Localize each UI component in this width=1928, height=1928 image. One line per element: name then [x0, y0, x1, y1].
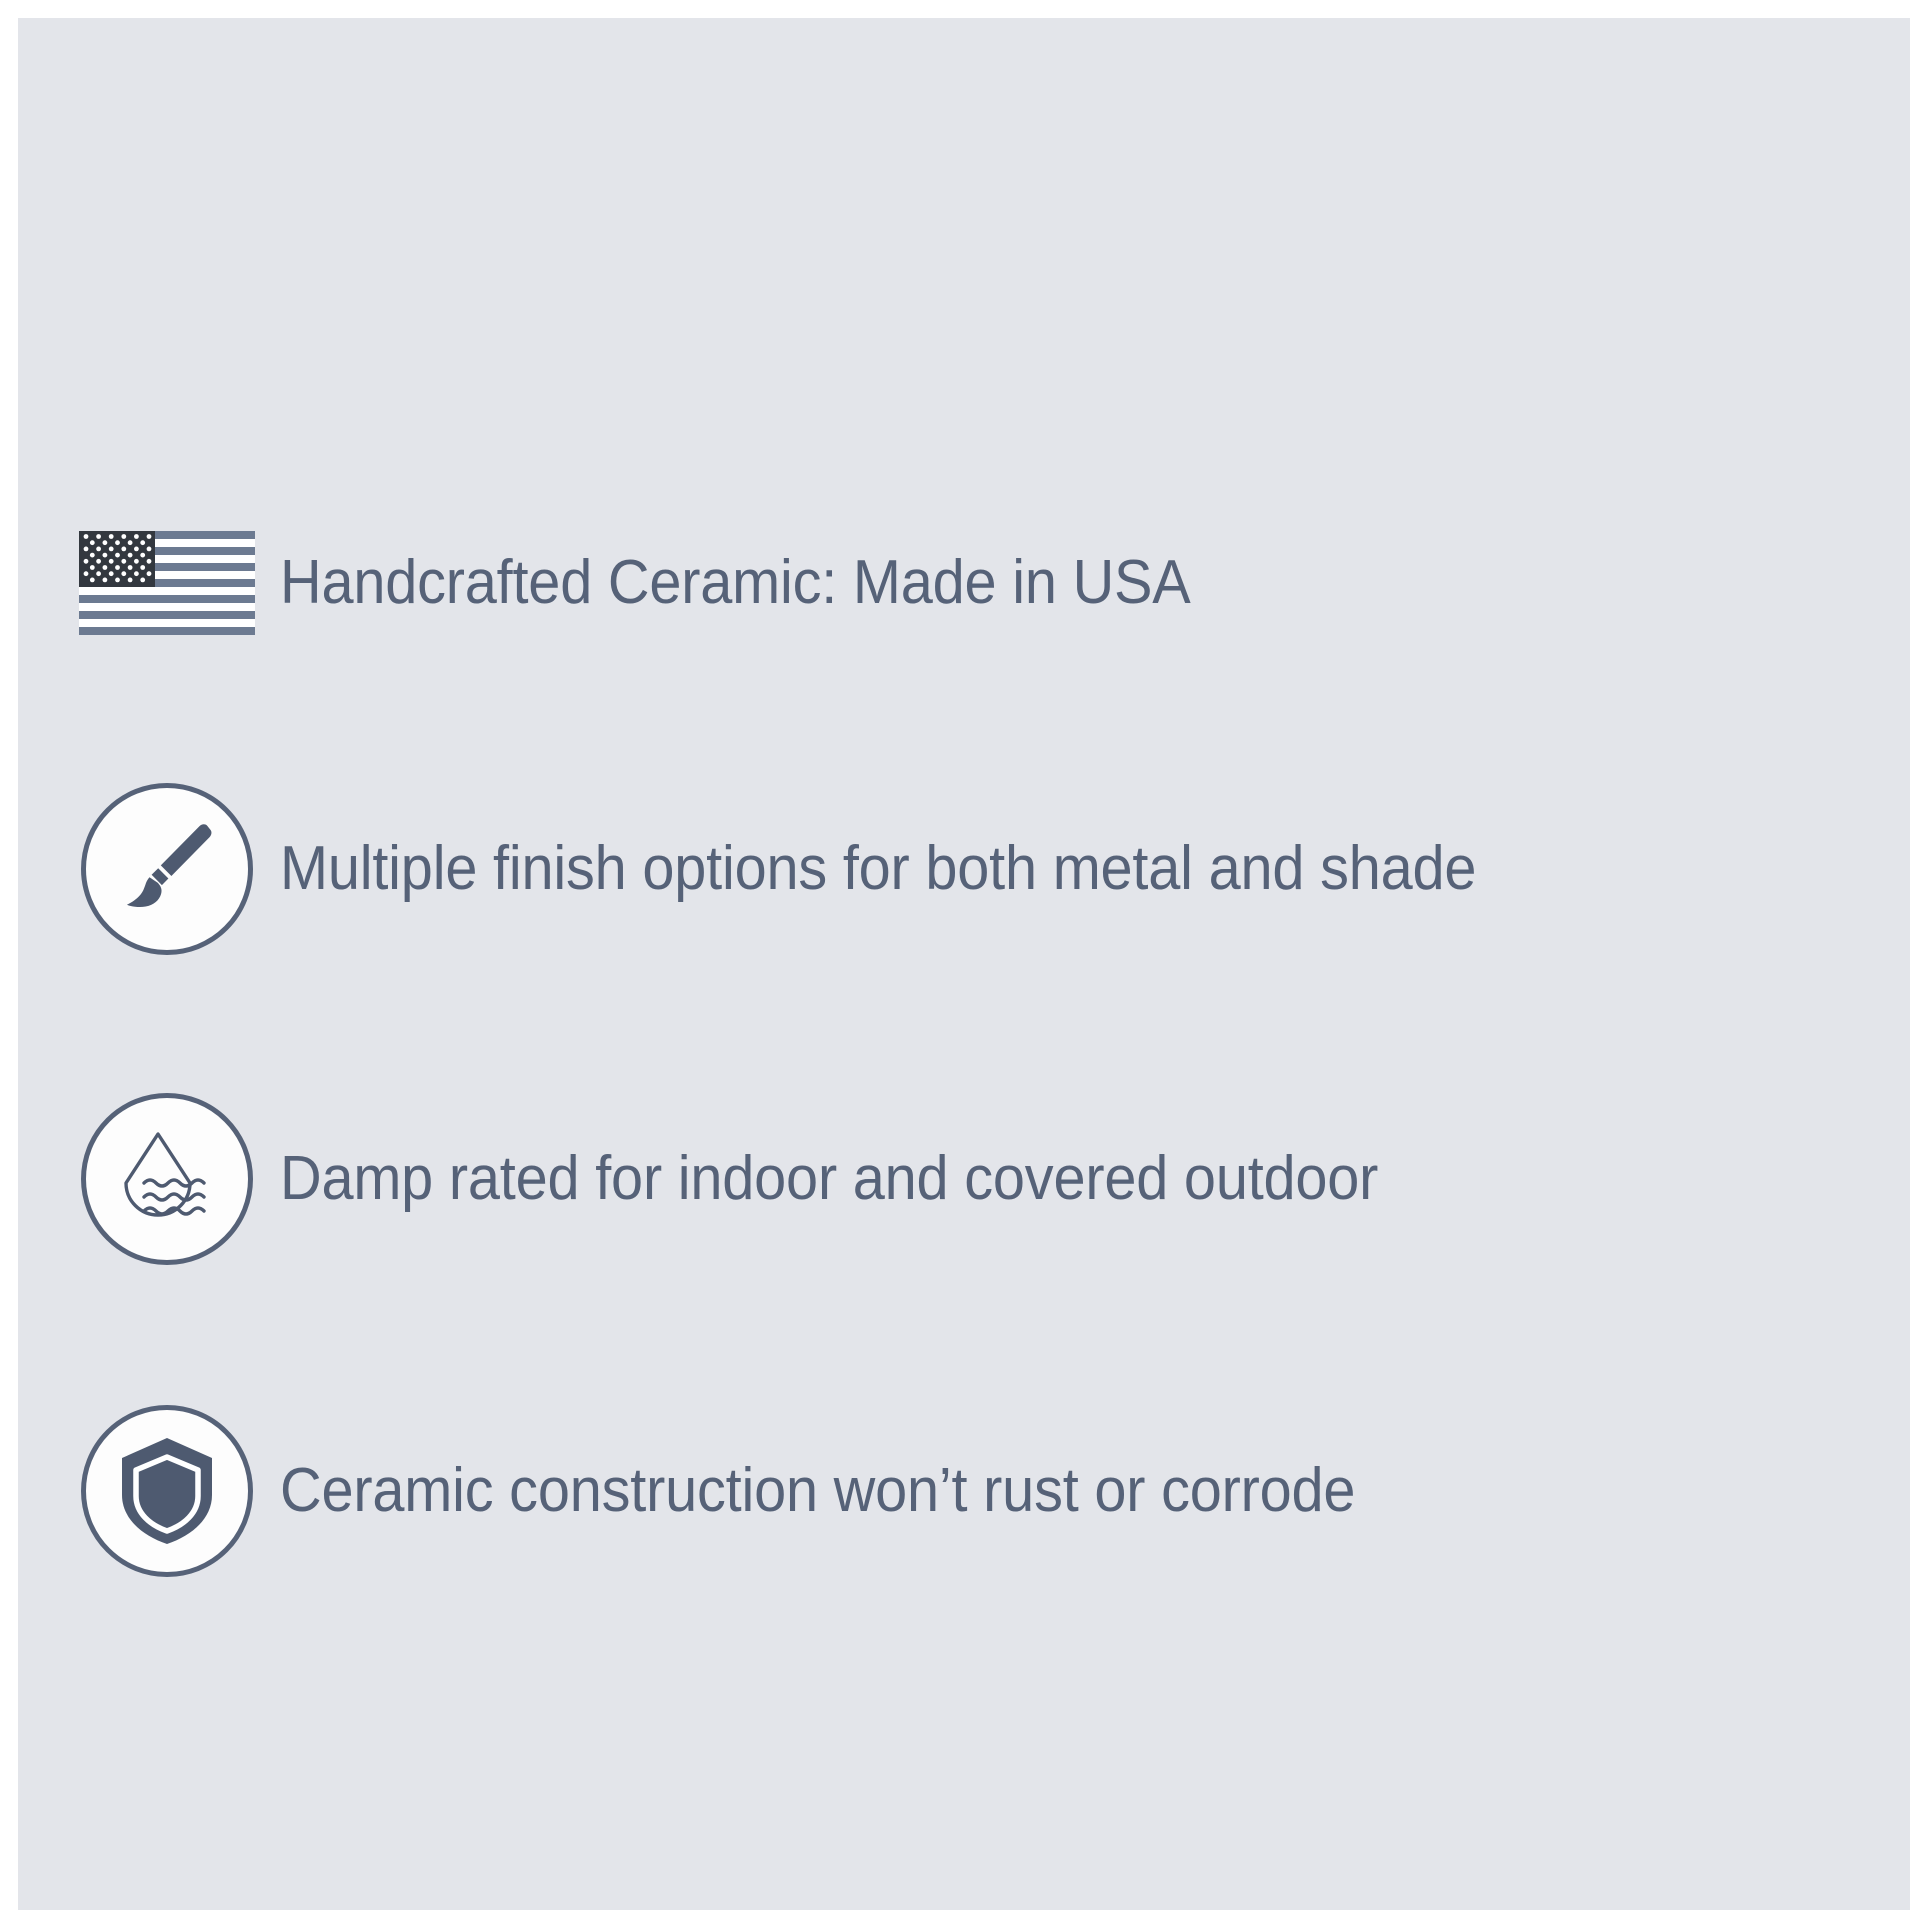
- feature-icon-slot: [74, 508, 260, 658]
- feature-row: Damp rated for indoor and covered outdoo…: [74, 1090, 1461, 1268]
- paintbrush-icon-circle: [81, 783, 253, 955]
- feature-label: Ceramic construction won’t rust or corro…: [280, 1458, 1355, 1523]
- water-droplet-icon-circle: [81, 1093, 253, 1265]
- feature-row: Multiple finish options for both metal a…: [74, 780, 1566, 958]
- feature-row: Ceramic construction won’t rust or corro…: [74, 1402, 1436, 1580]
- feature-row: Handcrafted Ceramic: Made in USA: [74, 508, 1259, 658]
- feature-label: Multiple finish options for both metal a…: [280, 836, 1476, 901]
- water-droplet-icon: [113, 1125, 221, 1233]
- feature-icon-slot: [74, 780, 260, 958]
- us-flag-icon: [79, 531, 255, 635]
- feature-panel: Handcrafted Ceramic: Made in USA Multipl…: [18, 18, 1910, 1910]
- shield-icon-circle: [81, 1405, 253, 1577]
- feature-list: Handcrafted Ceramic: Made in USA Multipl…: [18, 18, 1910, 1910]
- paintbrush-icon: [115, 817, 219, 921]
- feature-label: Handcrafted Ceramic: Made in USA: [280, 550, 1191, 615]
- feature-icon-slot: [74, 1402, 260, 1580]
- feature-label: Damp rated for indoor and covered outdoo…: [280, 1146, 1378, 1211]
- shield-icon: [115, 1435, 219, 1547]
- feature-icon-slot: [74, 1090, 260, 1268]
